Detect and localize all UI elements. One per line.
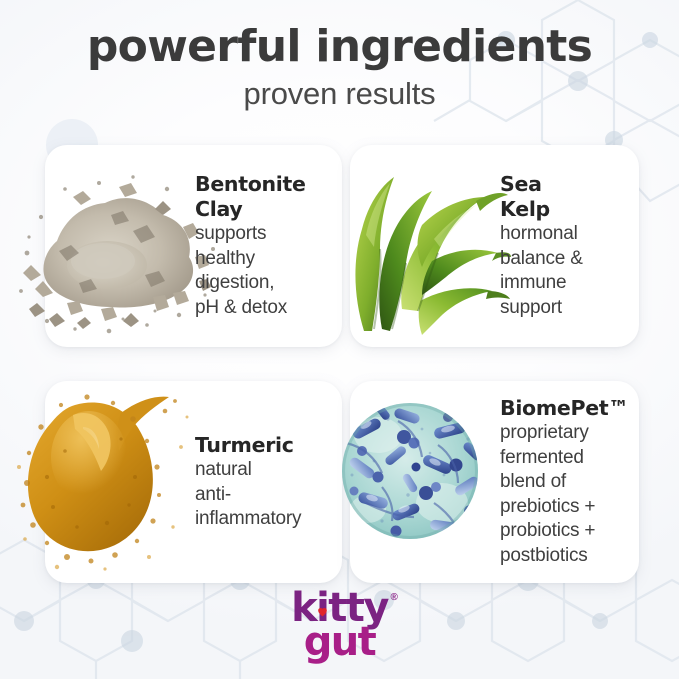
ingredient-description: natural anti- inflammatory — [195, 458, 332, 532]
heart-icon — [316, 605, 329, 618]
turmeric-powder-image — [17, 387, 217, 572]
ingredient-card-biomepet[interactable]: BiomePet™ proprietary fermented blend of… — [350, 381, 639, 583]
ingredient-name: Sea Kelp — [500, 172, 629, 221]
ingredient-description: hormonal balance & immune support — [500, 222, 629, 320]
turmeric-text: Turmeric natural anti- inflammatory — [195, 433, 342, 532]
page-title: powerful ingredients — [0, 22, 679, 72]
sea-kelp-fronds-image — [336, 149, 511, 339]
biomepet-media — [350, 381, 500, 583]
ingredient-description: supports healthy digestion, pH & detox — [195, 222, 332, 320]
bentonite-clay-powder-image — [13, 153, 223, 343]
ingredients-infographic: powerful ingredients proven results — [0, 0, 679, 679]
page-subtitle: proven results — [0, 76, 679, 112]
ingredient-card-sea-kelp[interactable]: Sea Kelp hormonal balance & immune suppo… — [350, 145, 639, 347]
logo-line-gut: gut — [291, 626, 388, 659]
ingredient-name: Bentonite Clay — [195, 172, 332, 221]
sea-kelp-media — [350, 145, 500, 347]
heading-block: powerful ingredients proven results — [0, 22, 679, 112]
ingredient-name: Turmeric — [195, 433, 332, 458]
biomepet-text: BiomePet™ proprietary fermented blend of… — [500, 396, 639, 569]
ingredient-card-grid: Bentonite Clay supports healthy digestio… — [45, 145, 635, 583]
ingredient-card-turmeric[interactable]: Turmeric natural anti- inflammatory — [45, 381, 342, 583]
registered-trademark-mark: ® — [390, 593, 397, 603]
ingredient-description: proprietary fermented blend of prebiotic… — [500, 421, 629, 568]
turmeric-media — [45, 381, 195, 583]
ingredient-name: BiomePet™ — [500, 396, 629, 421]
bentonite-clay-media — [45, 145, 195, 347]
bentonite-clay-text: Bentonite Clay supports healthy digestio… — [195, 172, 342, 320]
sea-kelp-text: Sea Kelp hormonal balance & immune suppo… — [500, 172, 639, 320]
brand-logo[interactable]: kitty ® gut — [0, 592, 679, 660]
ingredient-card-bentonite-clay[interactable]: Bentonite Clay supports healthy digestio… — [45, 145, 342, 347]
microbiome-bacteria-microscopy-image — [338, 399, 488, 549]
